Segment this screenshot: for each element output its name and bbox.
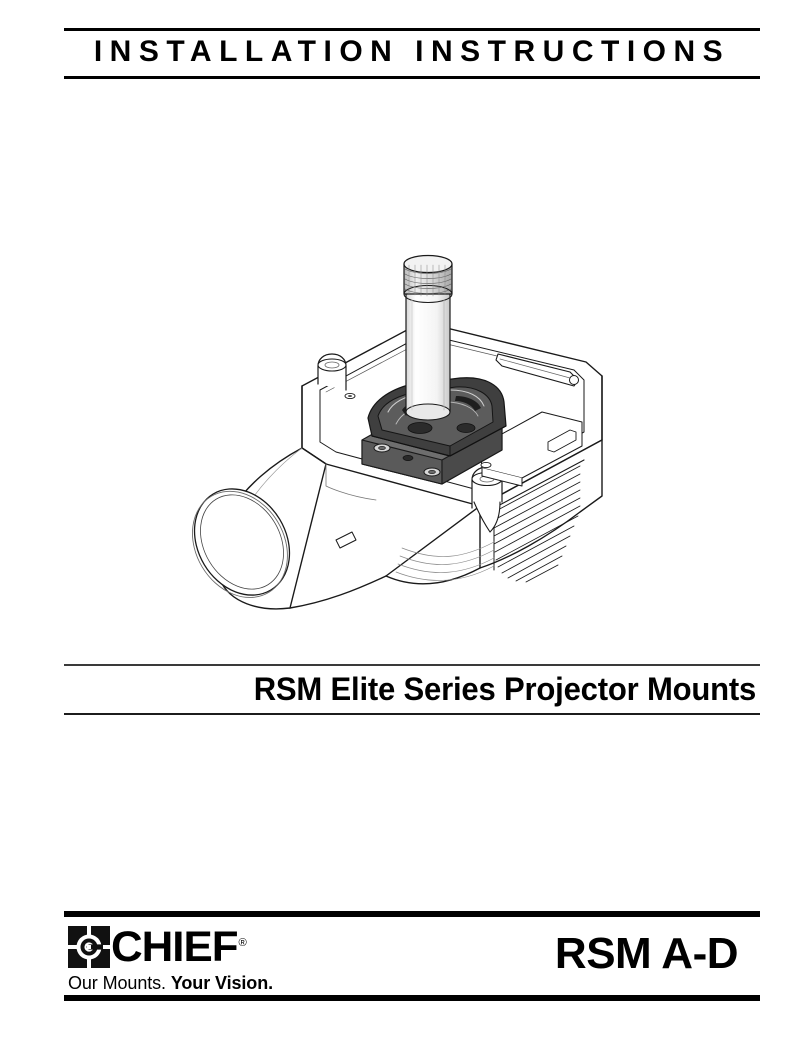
chief-wordmark-text: CHIEF bbox=[111, 923, 237, 971]
header-rule-bottom bbox=[64, 76, 760, 79]
model-code: RSM A-D bbox=[555, 928, 738, 980]
footer-rule-bottom bbox=[64, 995, 760, 1001]
chief-logo-block: CHIEF® Our Mounts. Your Vision. bbox=[68, 926, 398, 988]
chief-tagline: Our Mounts. Your Vision. bbox=[68, 972, 398, 994]
tagline-bold-part: Your Vision. bbox=[171, 973, 273, 993]
page-title: INSTALLATION INSTRUCTIONS bbox=[64, 31, 760, 74]
product-title-band: RSM Elite Series Projector Mounts bbox=[64, 664, 760, 715]
projector-line-drawing-svg bbox=[150, 250, 670, 630]
product-title: RSM Elite Series Projector Mounts bbox=[85, 666, 760, 713]
registered-trademark-icon: ® bbox=[239, 937, 246, 949]
header-band: INSTALLATION INSTRUCTIONS bbox=[64, 28, 760, 79]
chief-logo-row: CHIEF® bbox=[68, 926, 398, 968]
footer-rule-top bbox=[64, 911, 760, 917]
extension-column bbox=[404, 256, 452, 421]
projector-nose-label bbox=[336, 532, 356, 548]
chief-wordmark: CHIEF® bbox=[111, 926, 246, 968]
installation-instructions-cover-page: INSTALLATION INSTRUCTIONS bbox=[0, 0, 802, 1037]
product-title-rule-bottom bbox=[64, 713, 760, 716]
tagline-light-part: Our Mounts. bbox=[68, 973, 166, 993]
chief-quadrant-target-logo-icon bbox=[68, 926, 110, 968]
projector-foot-left bbox=[318, 354, 346, 390]
product-illustration bbox=[150, 250, 670, 630]
